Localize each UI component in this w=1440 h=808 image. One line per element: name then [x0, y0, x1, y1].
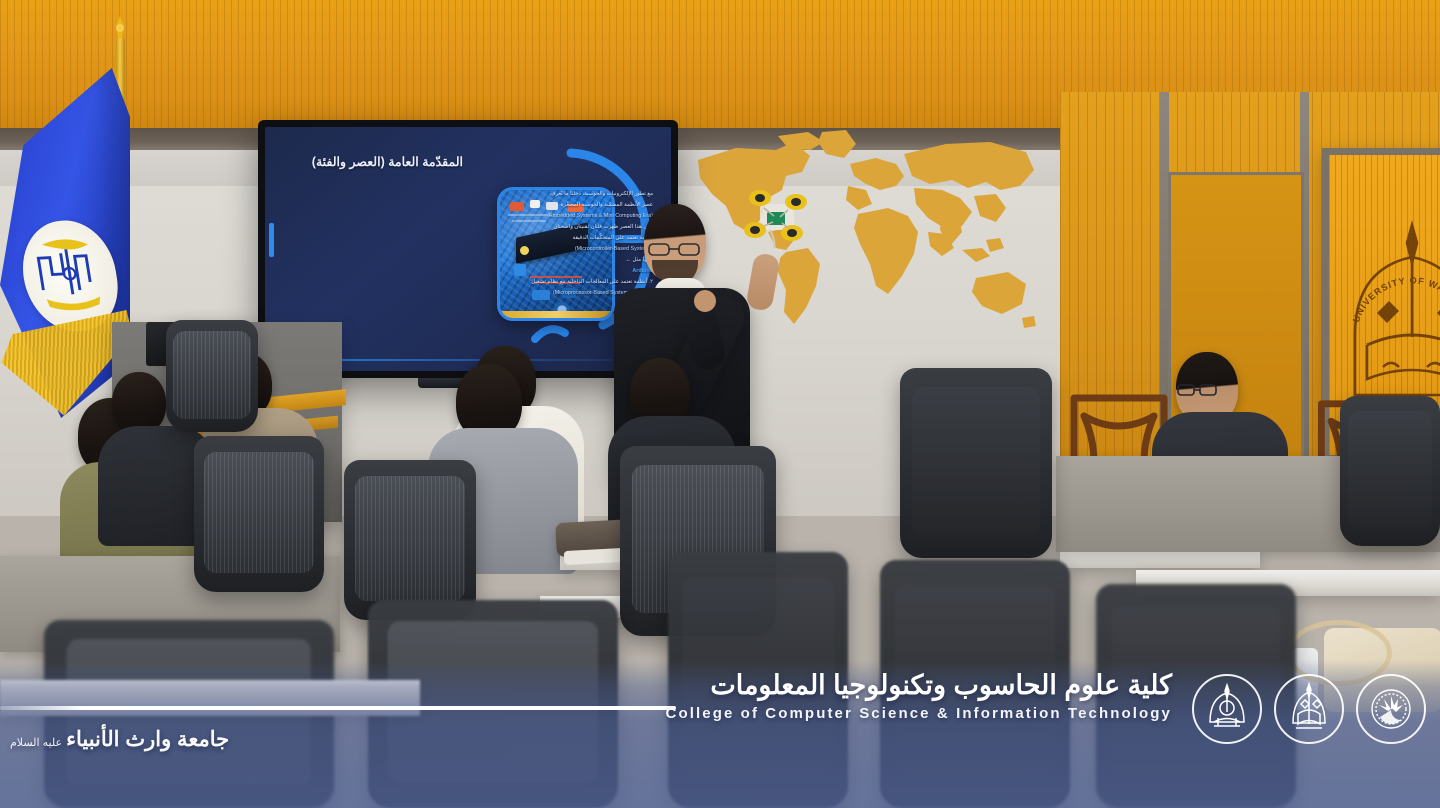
lecture-room: 2017 UNIVERSITY OF WARITH AL-ANBIYAA — [0, 0, 1440, 808]
student-head — [112, 372, 166, 434]
robot-car-icon — [740, 186, 812, 254]
photo-canvas: 2017 UNIVERSITY OF WARITH AL-ANBIYAA — [0, 0, 1440, 808]
slide-title: المقدّمة العامة (العصر والفئة) — [273, 155, 463, 171]
foreground-desk-edge — [0, 680, 420, 716]
flag-emblem-icon — [24, 227, 115, 321]
slide-left-accent — [269, 223, 274, 257]
presenter-hand — [745, 252, 780, 312]
office-chair — [194, 436, 324, 592]
foreground-office-chair — [668, 552, 848, 808]
watermark-arabic-suffix: عليه السلام — [10, 737, 62, 749]
office-chair — [1340, 396, 1440, 546]
foreground-office-chair — [880, 560, 1070, 808]
university-watermark: جامعة وارث الأنبياءعليه السلام — [10, 727, 229, 752]
glasses-icon — [646, 240, 704, 258]
foreground-office-chair — [1096, 584, 1296, 808]
office-chair — [900, 368, 1052, 558]
bag-handle — [1286, 620, 1392, 686]
presenter-fist — [694, 290, 716, 312]
watermark-arabic: جامعة وارث الأنبياء — [66, 728, 229, 751]
office-chair — [166, 320, 258, 432]
glasses-icon — [1176, 382, 1220, 398]
office-chair — [344, 460, 476, 620]
